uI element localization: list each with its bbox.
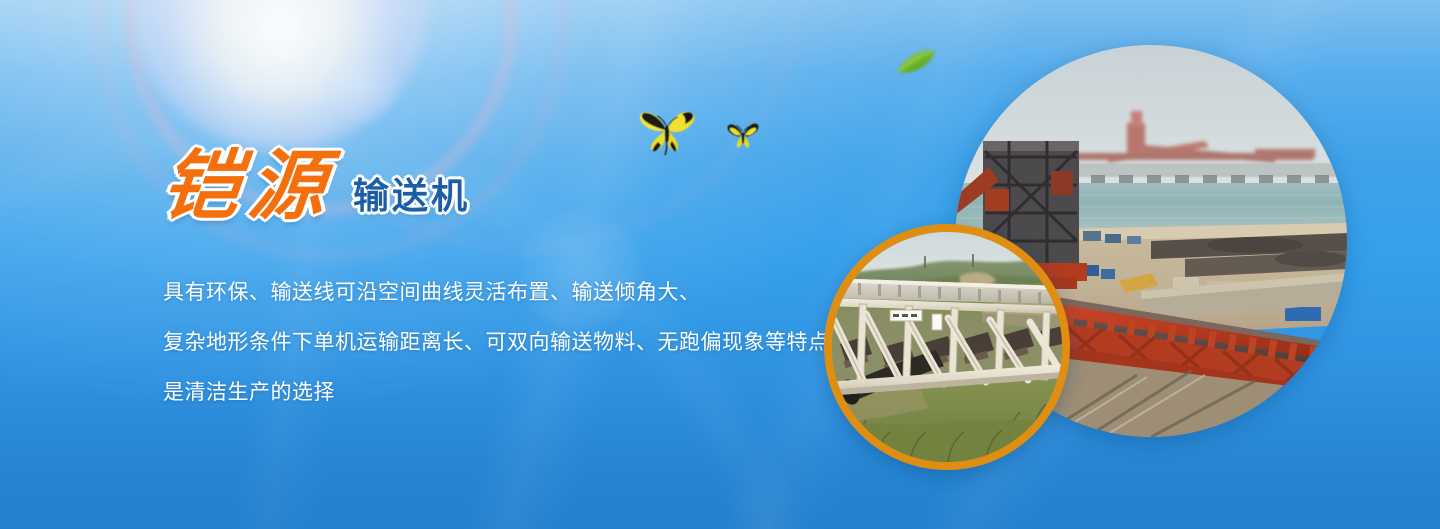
brand-title-row: 铠源 输送机 (163, 136, 863, 228)
hero-copy-block: 铠源 输送机 具有环保、输送线可沿空间曲线灵活布置、输送倾角大、 复杂地形条件下… (163, 136, 863, 418)
description-line-2: 复杂地形条件下单机运输距离长、可双向输送物料、无跑偏现象等特点， (163, 318, 863, 368)
truss-conveyor-photo (824, 224, 1070, 470)
brand-subtitle: 输送机 (353, 176, 470, 216)
description-line-1: 具有环保、输送线可沿空间曲线灵活布置、输送倾角大、 (163, 268, 863, 318)
brand-name: 铠源 (159, 144, 340, 228)
description-line-3: 是清洁生产的选择 (163, 368, 863, 418)
hero-banner: 铠源 输送机 具有环保、输送线可沿空间曲线灵活布置、输送倾角大、 复杂地形条件下… (0, 0, 1440, 529)
hero-description: 具有环保、输送线可沿空间曲线灵活布置、输送倾角大、 复杂地形条件下单机运输距离长… (163, 268, 863, 418)
lens-flare-orb-small (326, 50, 398, 122)
truss-photo-image (832, 232, 1062, 462)
